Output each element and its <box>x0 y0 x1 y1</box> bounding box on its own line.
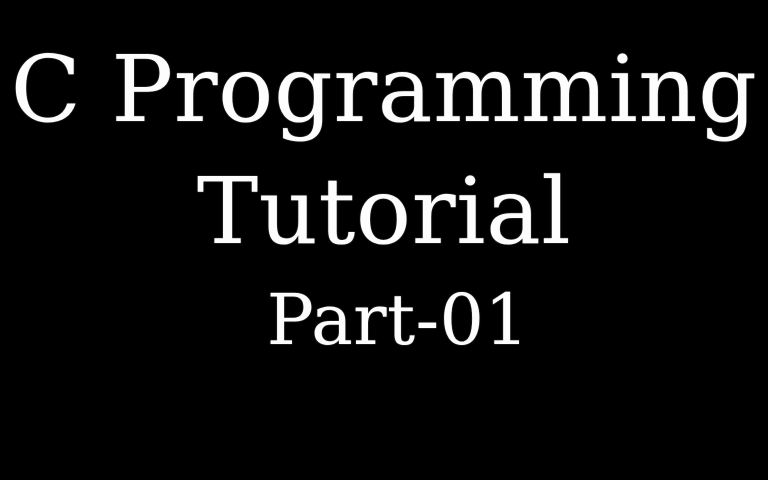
title-slide: C Programming Tutorial Part-01 <box>0 0 768 480</box>
title-block: C Programming Tutorial Part-01 <box>0 0 768 355</box>
title-line-2: Tutorial <box>0 136 768 258</box>
title-line-1: C Programming <box>0 30 768 136</box>
subtitle-part-number: Part-01 <box>0 258 768 355</box>
